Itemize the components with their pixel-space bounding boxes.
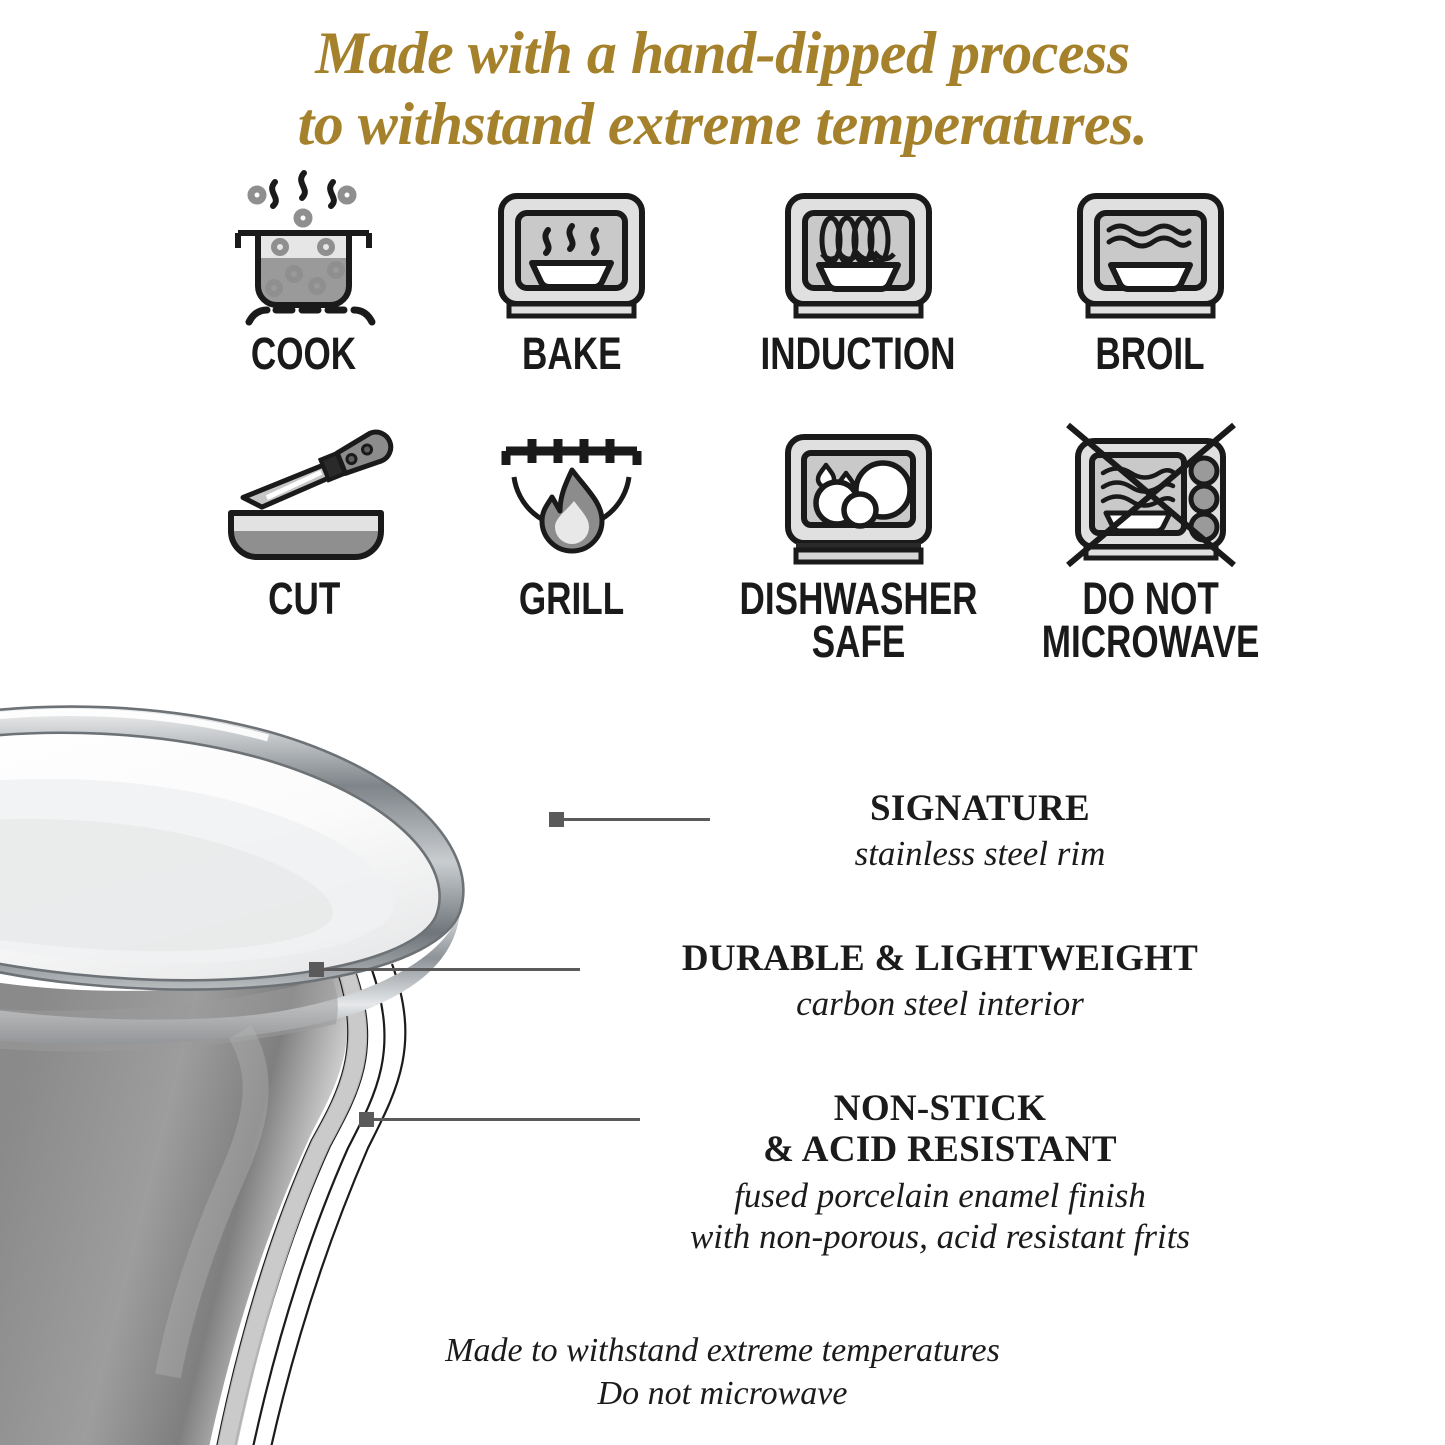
icon-label-induction: INDUCTION (761, 332, 956, 375)
broil-oven-icon (1063, 170, 1238, 328)
callout-subtitle-durable: carbon steel interior (560, 983, 1320, 1024)
dishwasher-icon (771, 415, 946, 573)
callout-subtitle-nonstick: fused porcelain enamel finish with non-p… (560, 1175, 1320, 1258)
headline-line-1: Made with a hand-dipped process (0, 18, 1445, 89)
callout-title-durable: DURABLE & LIGHTWEIGHT (560, 938, 1320, 979)
no-microwave-icon (1058, 415, 1243, 573)
feature-cell-cook: COOK (170, 170, 438, 415)
feature-icon-grid: COOK BAKE (170, 170, 1290, 660)
cook-pot-icon (216, 170, 391, 328)
footer-note: Made to withstand extreme temperatures D… (0, 1330, 1445, 1415)
callout-signature: SIGNATURE stainless steel rim (660, 788, 1300, 875)
feature-cell-do-not-microwave: DO NOT MICROWAVE (1011, 415, 1290, 660)
icon-label-bake: BAKE (522, 332, 621, 375)
icon-label-broil: BROIL (1096, 332, 1205, 375)
callout-non-stick-acid-resistant: NON-STICK & ACID RESISTANT fused porcela… (560, 1088, 1320, 1257)
callout-title-signature: SIGNATURE (660, 788, 1300, 829)
product-illustration (0, 612, 640, 1445)
headline-line-2: to withstand extreme temperatures. (0, 89, 1445, 160)
induction-coil-icon (771, 170, 946, 328)
feature-cell-dishwasher-safe: DISHWASHER SAFE (706, 415, 1011, 660)
icon-label-cook: COOK (251, 332, 356, 375)
feature-cell-bake: BAKE (438, 170, 706, 415)
bake-oven-icon (484, 170, 659, 328)
icon-label-do-not-microwave: DO NOT MICROWAVE (1042, 577, 1260, 663)
feature-cell-induction: INDUCTION (706, 170, 1011, 415)
feature-cell-broil: BROIL (1011, 170, 1290, 415)
product-infographic: Made with a hand-dipped process to withs… (0, 0, 1445, 1445)
callout-durable-lightweight: DURABLE & LIGHTWEIGHT carbon steel inter… (560, 938, 1320, 1025)
callout-title-nonstick: NON-STICK & ACID RESISTANT (560, 1088, 1320, 1171)
page-headline: Made with a hand-dipped process to withs… (0, 18, 1445, 160)
leader-line-durable (318, 968, 580, 971)
callout-subtitle-signature: stainless steel rim (660, 833, 1300, 874)
icon-label-dishwasher-safe: DISHWASHER SAFE (739, 577, 977, 663)
cut-knife-icon (209, 415, 399, 573)
grill-flame-icon (484, 415, 659, 573)
